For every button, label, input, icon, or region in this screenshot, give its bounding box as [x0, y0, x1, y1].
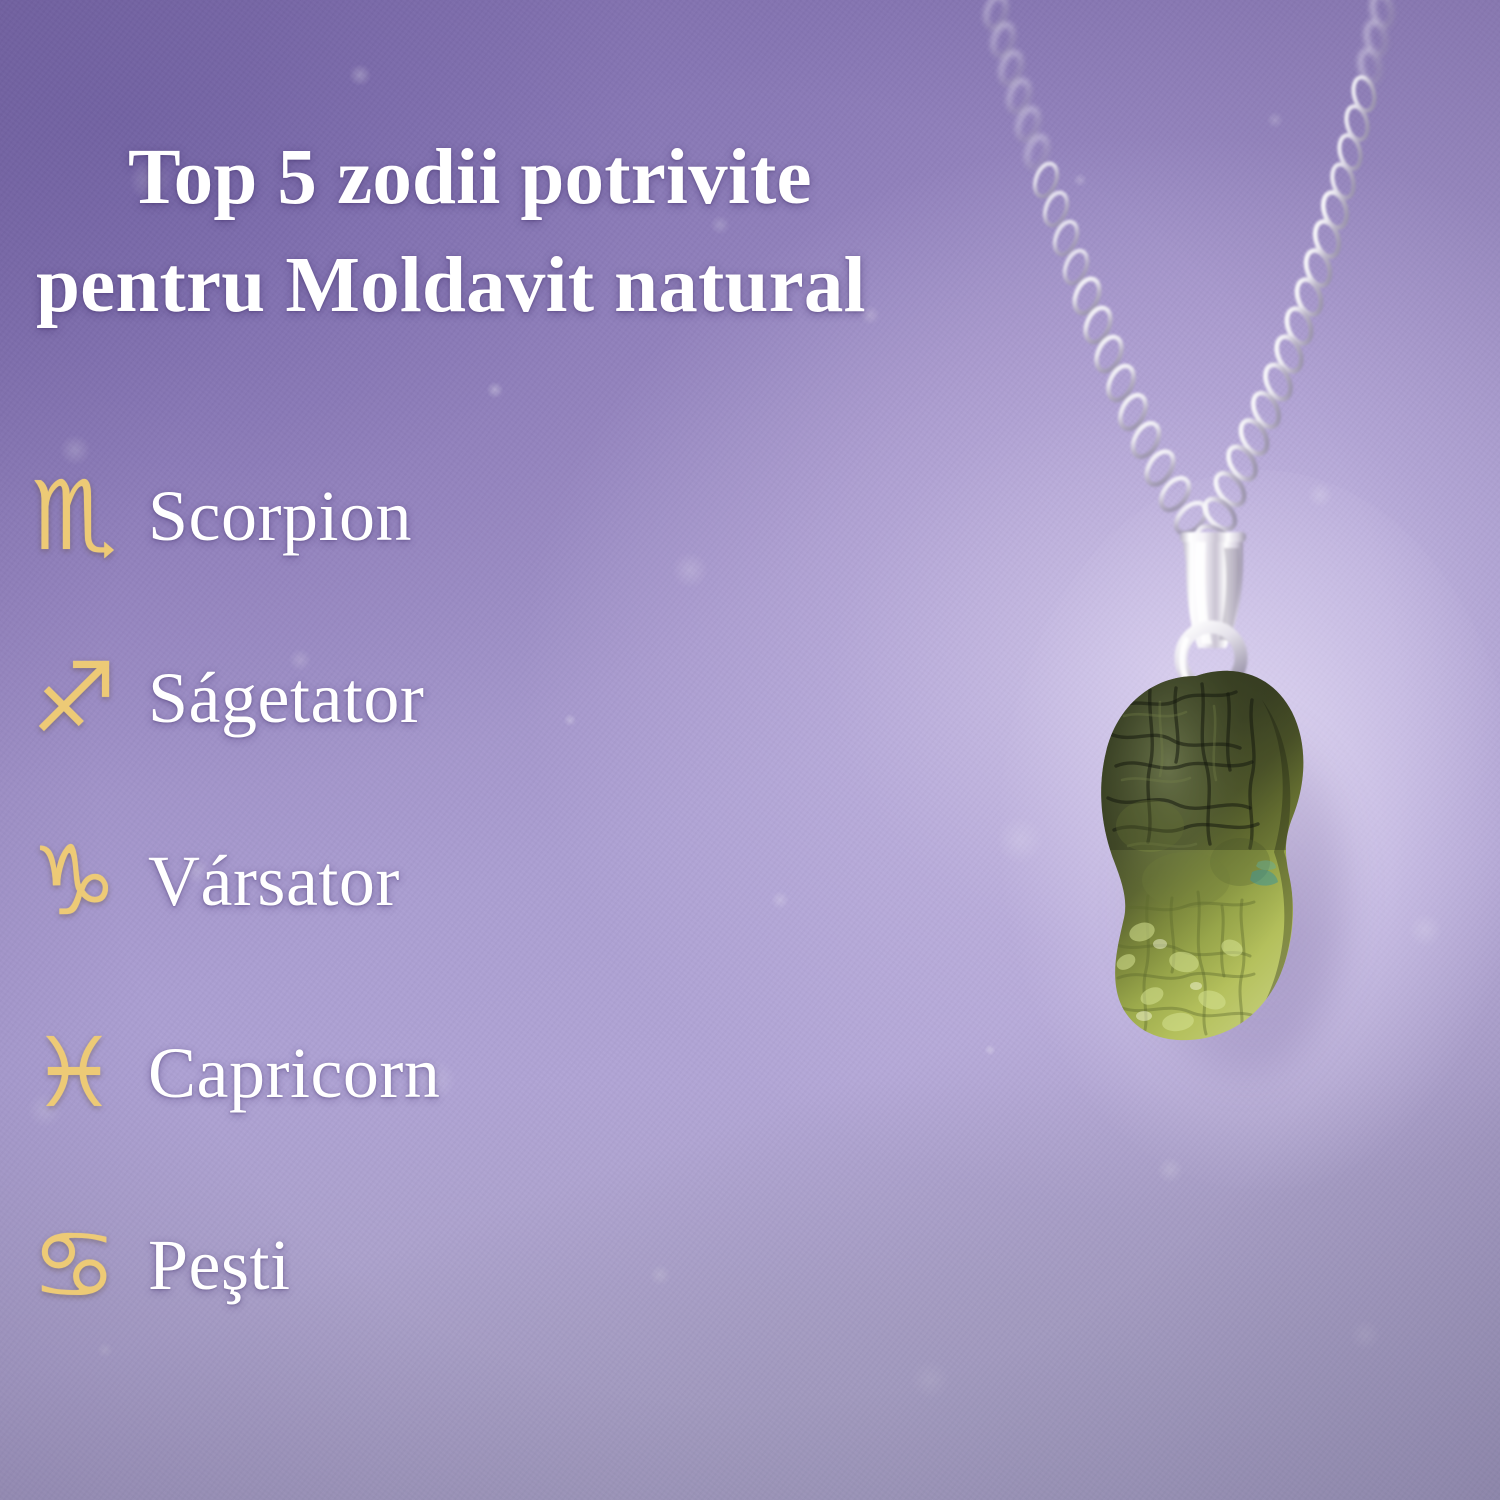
cancer-zodiac-glyph-icon: ♋ [0, 1217, 148, 1313]
sagittarius-zodiac-glyph-icon: ♐ [0, 650, 148, 746]
list-item: ♏ Scorpion [0, 456, 412, 576]
list-item: ♑ Vársator [0, 821, 400, 941]
zodiac-label: Vársator [148, 845, 400, 917]
promo-graphic-canvas: Top 5 zodii potrivite pentru Moldavit na… [0, 0, 1500, 1500]
zodiac-label: Scorpion [148, 480, 412, 552]
list-item: ♐ Ságetator [0, 638, 424, 758]
zodiac-label: Peşti [148, 1229, 291, 1301]
pisces-zodiac-glyph-icon: ♓ [0, 1025, 148, 1121]
scorpio-zodiac-glyph-icon: ♏ [0, 468, 148, 564]
title-line-2: pentru Moldavit natural [36, 232, 1028, 340]
list-item: ♓ Capricorn [0, 1013, 440, 1133]
title-line-1: Top 5 zodii potrivite [128, 124, 1028, 232]
zodiac-label: Ságetator [148, 662, 424, 734]
zodiac-label: Capricorn [148, 1037, 440, 1109]
capricorn-zodiac-glyph-icon: ♑ [0, 833, 148, 929]
page-title: Top 5 zodii potrivite pentru Moldavit na… [128, 124, 1028, 340]
list-item: ♋ Peşti [0, 1205, 291, 1325]
